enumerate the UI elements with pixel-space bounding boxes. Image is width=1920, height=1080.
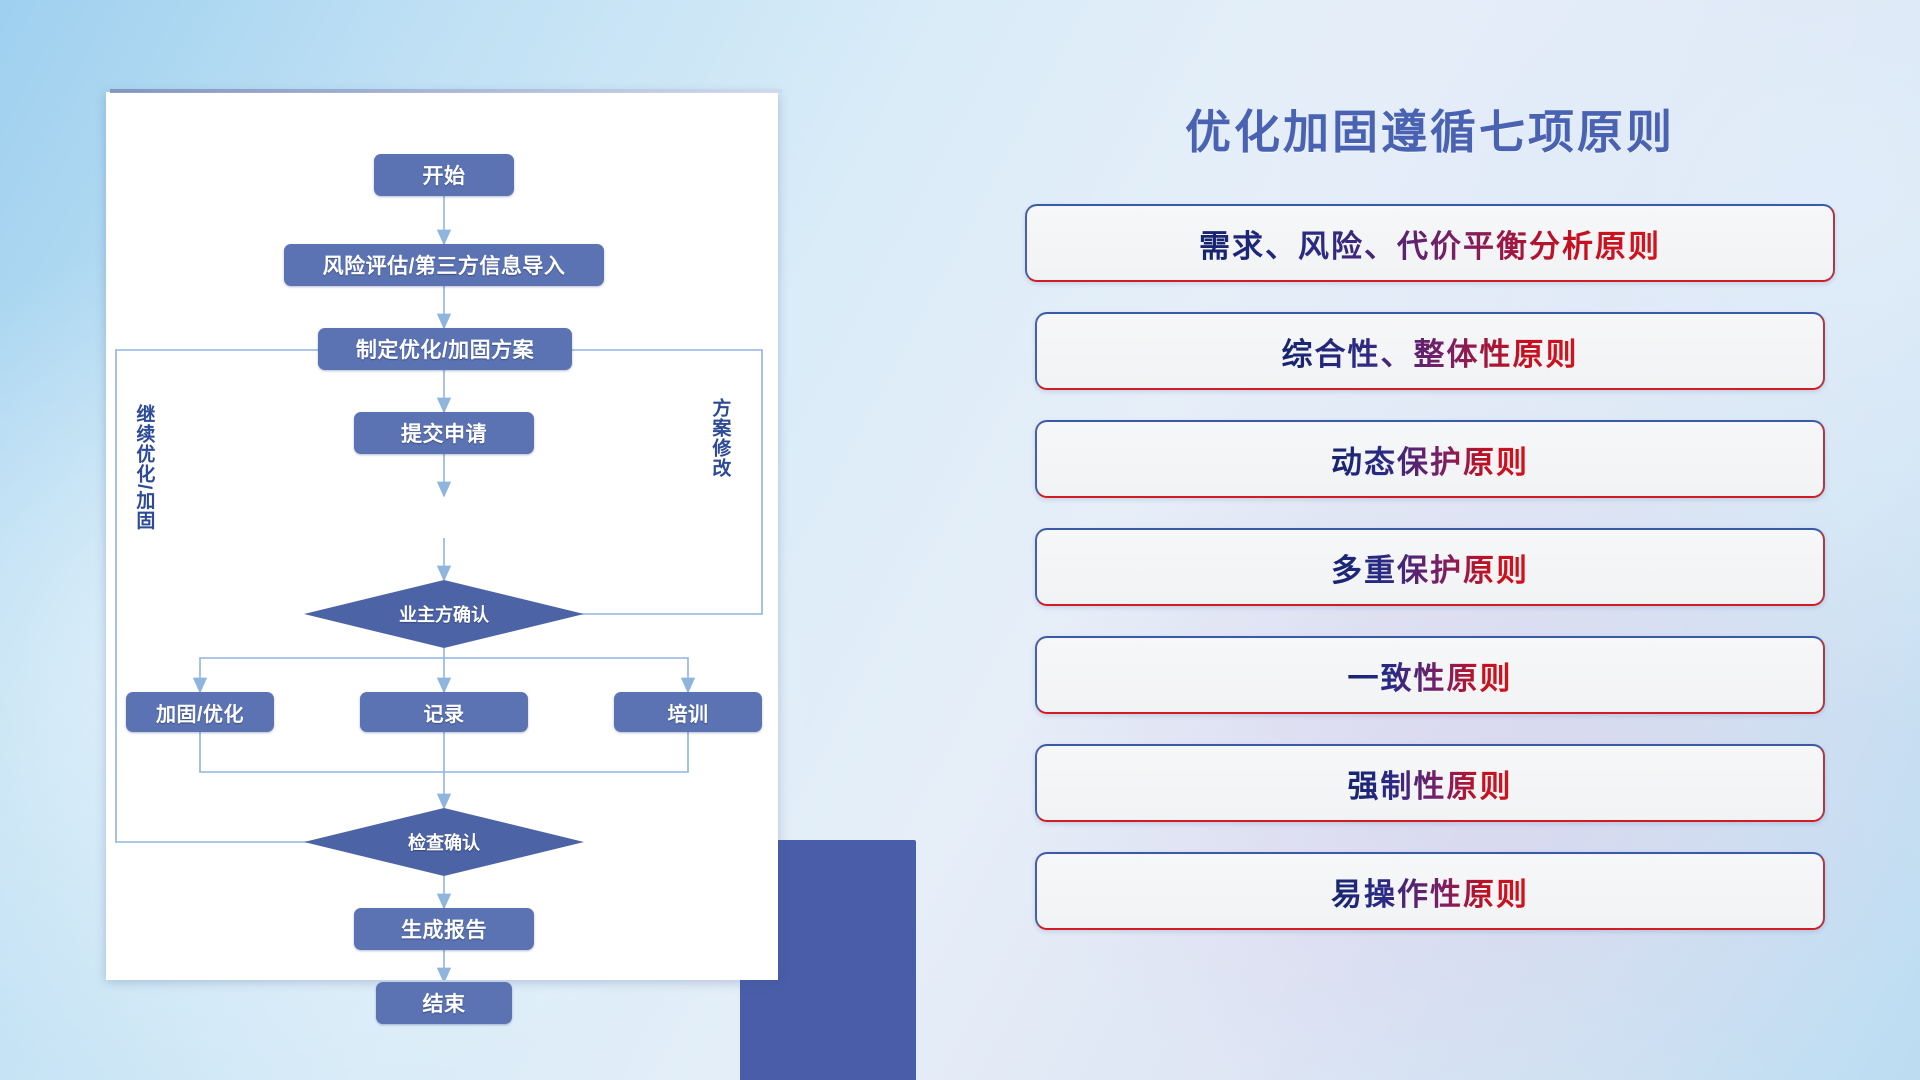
flow-node-start[interactable]: 开始 xyxy=(374,154,514,196)
flow-node-record[interactable]: 记录 xyxy=(360,692,528,732)
flow-node-report[interactable]: 生成报告 xyxy=(354,908,534,950)
flow-node-label: 结束 xyxy=(423,988,466,1018)
edge-label-plan-revision: 方案修改 xyxy=(710,398,729,478)
flow-node-label: 风险评估/第三方信息导入 xyxy=(323,250,566,280)
principle-label: 动态保护原则 xyxy=(1331,437,1529,482)
flow-decision-label: 业主方确认 xyxy=(399,601,489,627)
principle-card[interactable]: 多重保护原则 xyxy=(1035,528,1825,606)
flow-node-training[interactable]: 培训 xyxy=(614,692,762,732)
principle-label: 多重保护原则 xyxy=(1331,545,1529,590)
flow-node-label: 生成报告 xyxy=(401,914,487,944)
principle-card[interactable]: 需求、风险、代价平衡分析原则 xyxy=(1025,204,1835,282)
principles-panel: 优化加固遵循七项原则 需求、风险、代价平衡分析原则 综合性、整体性原则 动态保护… xyxy=(1020,96,1840,960)
flow-node-label: 加固/优化 xyxy=(156,698,244,727)
flow-node-label: 培训 xyxy=(668,698,709,727)
flow-node-label: 记录 xyxy=(424,698,465,727)
flow-node-label: 制定优化/加固方案 xyxy=(356,334,534,364)
flowchart-panel: 开始 风险评估/第三方信息导入 制定优化/加固方案 提交申请 业主方确认 加固/… xyxy=(106,92,778,980)
flow-node-label: 提交申请 xyxy=(401,418,487,448)
flow-node-plan[interactable]: 制定优化/加固方案 xyxy=(318,328,572,370)
flow-node-submit[interactable]: 提交申请 xyxy=(354,412,534,454)
principle-card[interactable]: 动态保护原则 xyxy=(1035,420,1825,498)
principle-card[interactable]: 一致性原则 xyxy=(1035,636,1825,714)
principle-label: 综合性、整体性原则 xyxy=(1282,329,1579,374)
flow-node-reinforce[interactable]: 加固/优化 xyxy=(126,692,274,732)
flowchart-canvas: 开始 风险评估/第三方信息导入 制定优化/加固方案 提交申请 业主方确认 加固/… xyxy=(106,92,778,980)
edge-label-continue-optimize: 继续优化/加固 xyxy=(134,404,153,530)
principle-label: 需求、风险、代价平衡分析原则 xyxy=(1199,221,1661,266)
flow-node-end[interactable]: 结束 xyxy=(376,982,512,1024)
flow-node-label: 开始 xyxy=(423,160,466,190)
principle-label: 强制性原则 xyxy=(1348,761,1513,806)
accent-block-horizontal xyxy=(740,1052,916,1080)
principle-card[interactable]: 易操作性原则 xyxy=(1035,852,1825,930)
flowchart-card: 开始 风险评估/第三方信息导入 制定优化/加固方案 提交申请 业主方确认 加固/… xyxy=(106,92,778,980)
principle-label: 一致性原则 xyxy=(1348,653,1513,698)
flow-decision-label: 检查确认 xyxy=(408,829,480,855)
page-title: 优化加固遵循七项原则 xyxy=(1020,96,1840,162)
flow-node-risk-assessment[interactable]: 风险评估/第三方信息导入 xyxy=(284,244,604,286)
principle-label: 易操作性原则 xyxy=(1331,869,1529,914)
principle-card[interactable]: 强制性原则 xyxy=(1035,744,1825,822)
principle-card[interactable]: 综合性、整体性原则 xyxy=(1035,312,1825,390)
